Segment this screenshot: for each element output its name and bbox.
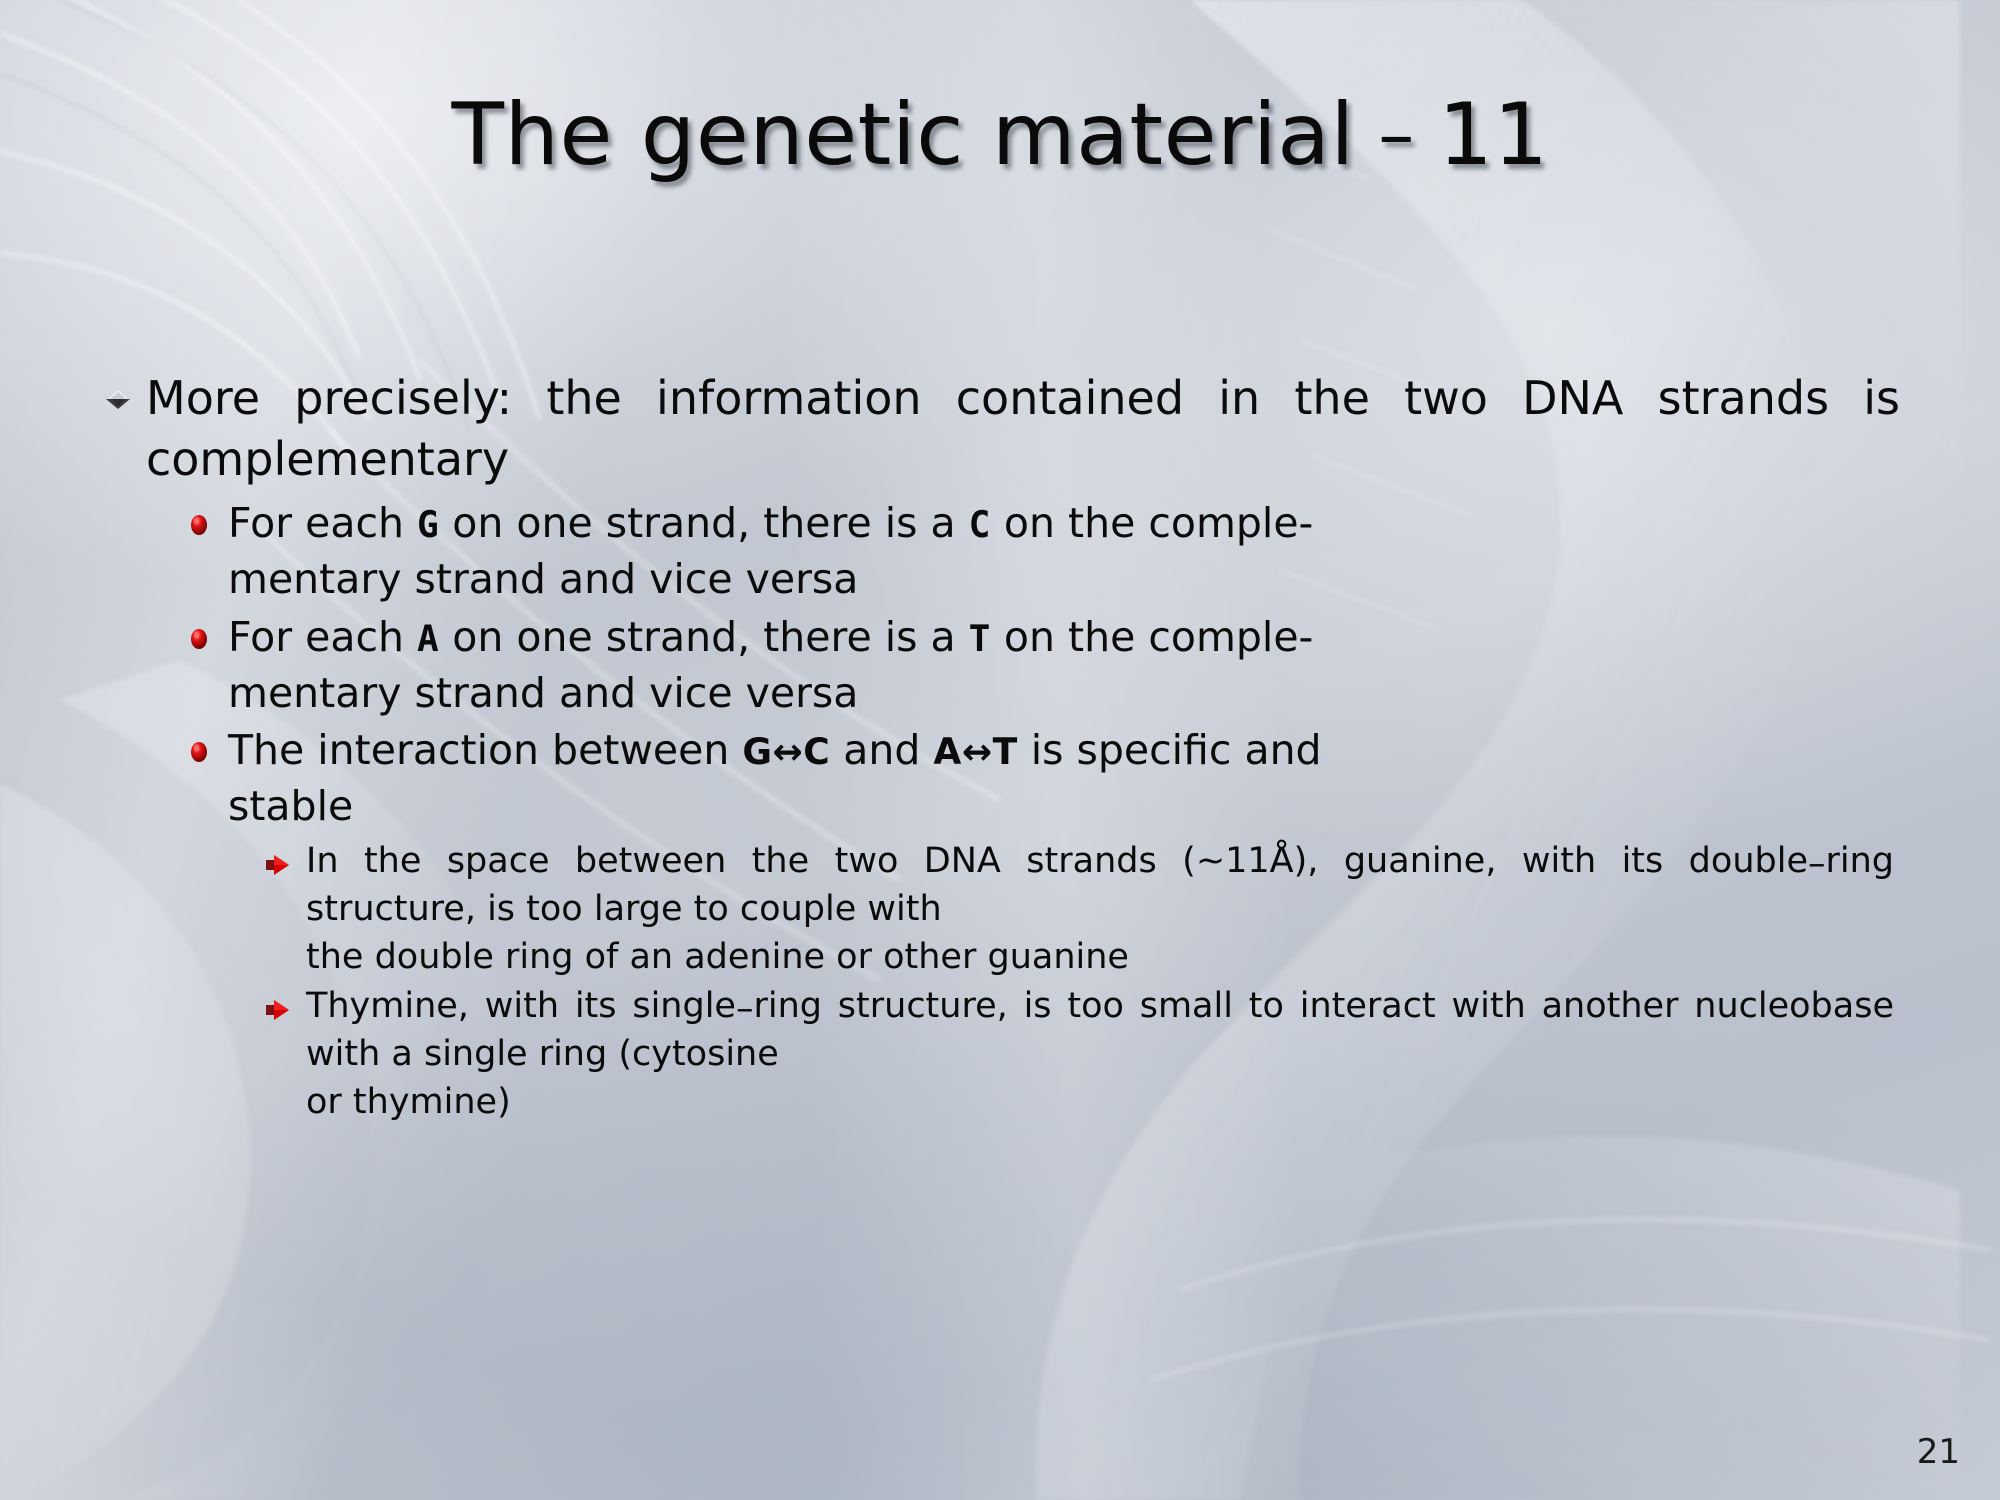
bullet-text-level3-guanine: In the space between the two DNA strands…	[306, 837, 1900, 982]
nucleotide-g: G	[417, 504, 439, 546]
bullet-last-line: mentary strand and vice versa	[228, 552, 1894, 608]
bullet-last-line: stable	[228, 779, 1894, 835]
bullet-text-level3-thymine: Thymine, with its single–ring structure,…	[306, 982, 1900, 1127]
presentation-slide: The genetic material – 11 More precisely…	[0, 0, 2000, 1500]
bullet-item-level2-g-c: For each G on one strand, there is a C o…	[182, 496, 1900, 608]
bullet-item-level2-interaction: The interaction between G↔C and A↔T is s…	[182, 723, 1900, 835]
nucleotide-a: A	[417, 618, 439, 660]
segment-plain: on one strand, there is a	[439, 613, 968, 661]
slide-title-main: The genetic material	[451, 85, 1354, 185]
segment-plain: In the space between the two DNA strands…	[306, 841, 1808, 881]
bullet-last-line: the double ring of an adenine or other g…	[306, 933, 1894, 981]
segment-plain: on the comple-	[991, 499, 1313, 547]
pair-a-t: A↔T	[933, 731, 1017, 773]
segment-plain: For each	[228, 613, 417, 661]
slide-title-number: 11	[1438, 85, 1548, 185]
bullet-text-level2-interaction: The interaction between G↔C and A↔T is s…	[228, 723, 1900, 835]
en-dash: –	[1808, 844, 1826, 884]
segment-plain: The interaction between	[228, 726, 742, 774]
bullet-text-level1: More precisely: the information containe…	[146, 368, 1900, 490]
segment-plain: Thymine, with its single	[306, 986, 736, 1026]
bullet-item-level3-thymine: Thymine, with its single–ring structure,…	[262, 982, 1900, 1127]
red-sphere-bullet-icon	[182, 514, 216, 536]
red-arrow-bullet-icon	[262, 853, 294, 877]
bullet-item-level1: More precisely: the information containe…	[100, 368, 1900, 490]
en-dash: –	[736, 989, 754, 1029]
nucleotide-c: C	[969, 504, 991, 546]
red-arrow-bullet-icon	[262, 998, 294, 1022]
bullet-text-level2-a-t: For each A on one strand, there is a T o…	[228, 610, 1900, 722]
slide-title: The genetic material – 11	[150, 92, 1850, 178]
bullet-item-level3-guanine: In the space between the two DNA strands…	[262, 837, 1900, 982]
segment-plain: is specific and	[1018, 726, 1322, 774]
slide-title-dash: –	[1378, 93, 1415, 177]
bullet-last-line: mentary strand and vice versa	[228, 666, 1894, 722]
bullet-item-level2-a-t: For each A on one strand, there is a T o…	[182, 610, 1900, 722]
segment-plain: on the comple-	[991, 613, 1313, 661]
segment-plain: and	[830, 726, 933, 774]
pair-g-c: G↔C	[742, 731, 830, 773]
segment-plain: For each	[228, 499, 417, 547]
red-sphere-bullet-icon	[182, 628, 216, 650]
slide-body: More precisely: the information containe…	[100, 368, 1900, 1127]
slide-page-number: 21	[1917, 1432, 1960, 1472]
bullet-last-line: or thymine)	[306, 1078, 1894, 1126]
nucleotide-t: T	[969, 618, 991, 660]
segment-plain: on one strand, there is a	[439, 499, 968, 547]
bullet-line: More precisely: the information containe…	[146, 371, 1900, 486]
diamond-bullet-icon	[100, 386, 136, 412]
red-sphere-bullet-icon	[182, 741, 216, 763]
bullet-text-level2-g-c: For each G on one strand, there is a C o…	[228, 496, 1900, 608]
